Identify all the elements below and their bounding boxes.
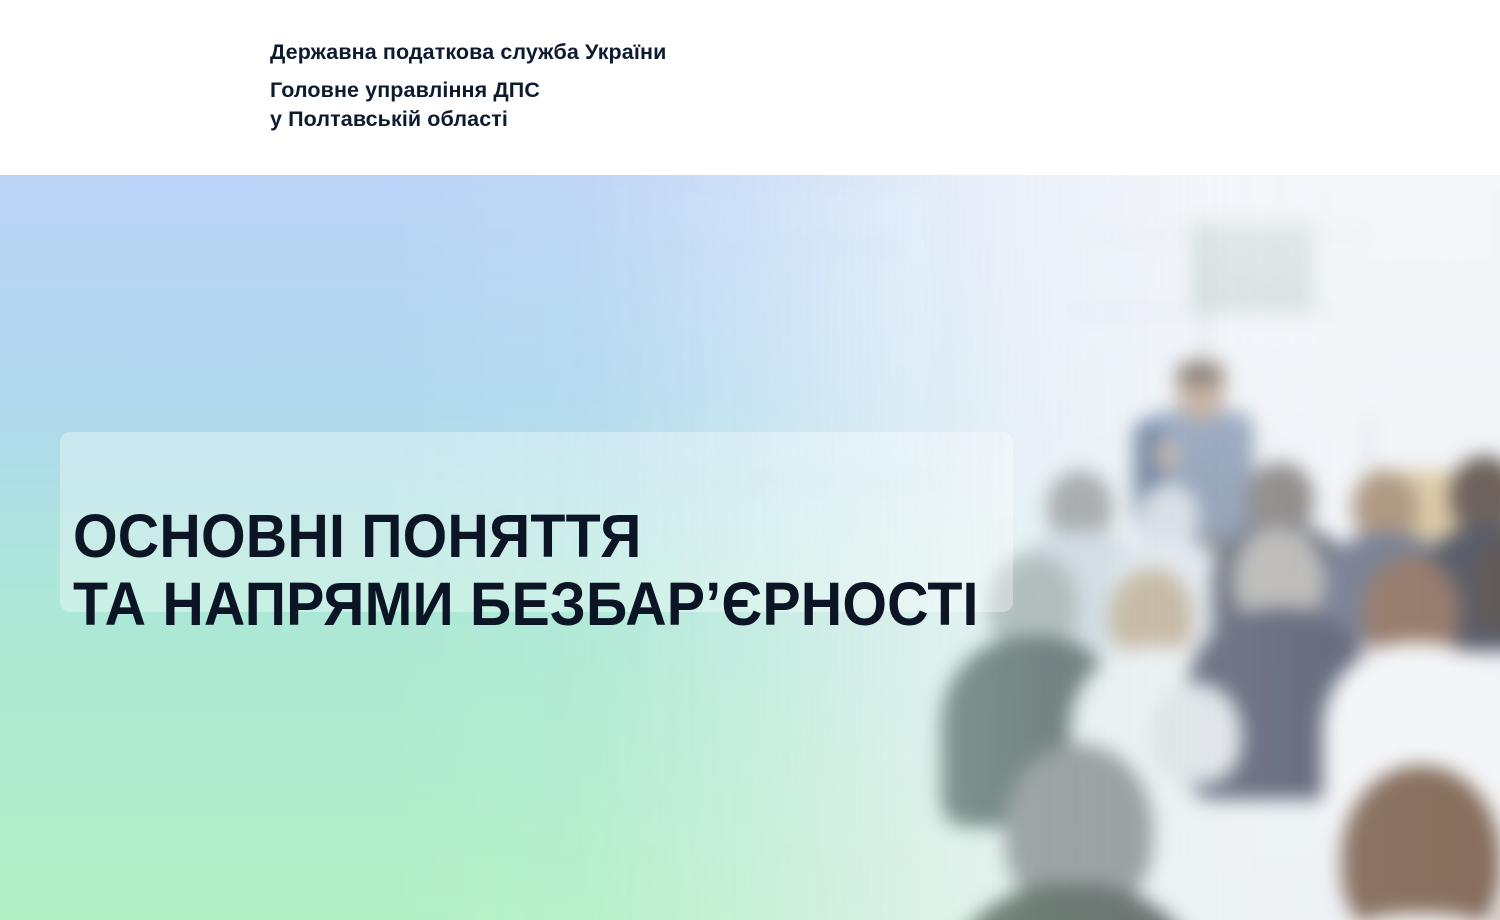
hero-banner: ОСНОВНІ ПОНЯТТЯ ТА НАПРЯМИ БЕЗБАР’ЄРНОСТ…	[0, 175, 1500, 920]
page-root: Державна податкова служба України Головн…	[0, 0, 1500, 920]
ukrainian-trident-icon	[152, 38, 252, 138]
brand-text-block: Державна податкова служба України Головн…	[270, 42, 666, 134]
hero-title-line-1: ОСНОВНІ ПОНЯТТЯ	[73, 502, 979, 570]
site-header: Державна податкова служба України Головн…	[0, 0, 1500, 175]
dps-logo[interactable]	[84, 38, 252, 138]
brand-block[interactable]: Державна податкова служба України Головн…	[84, 38, 666, 138]
org-name-line-3: у Полтавській області	[270, 105, 666, 134]
org-name-line-2: Головне управління ДПС	[270, 76, 666, 105]
hero-title: ОСНОВНІ ПОНЯТТЯ ТА НАПРЯМИ БЕЗБАР’ЄРНОСТ…	[73, 502, 979, 638]
org-name-line-1: Державна податкова служба України	[270, 42, 666, 64]
hero-title-line-2: ТА НАПРЯМИ БЕЗБАР’ЄРНОСТІ	[73, 570, 979, 638]
